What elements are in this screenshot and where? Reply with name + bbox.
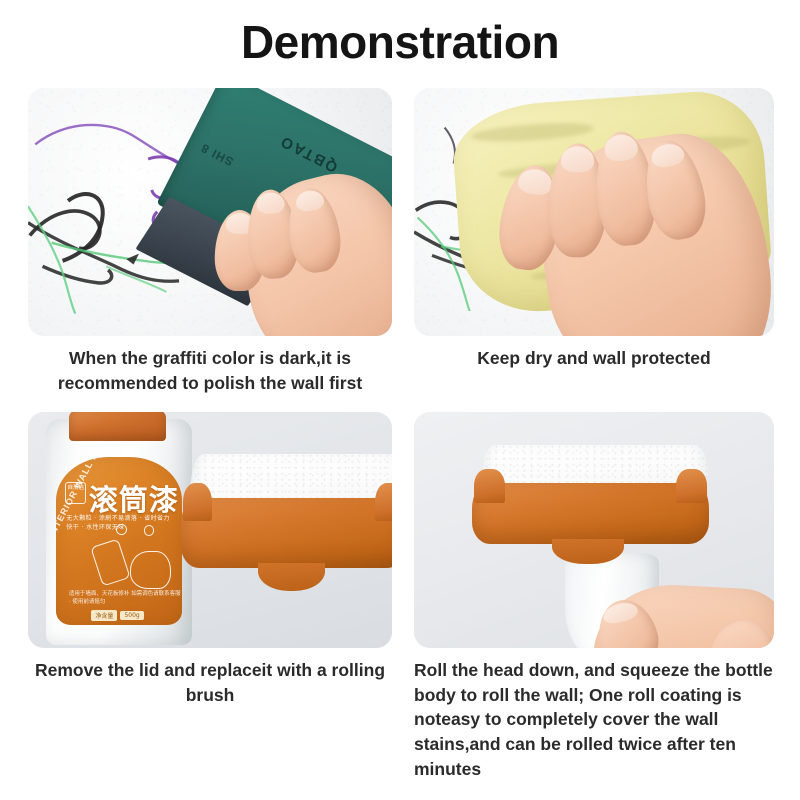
label-footnote: 适用于墙面、天花板修补 如需调色请联系客服 · 使用前请摇匀: [69, 590, 182, 607]
roller-frame: [181, 498, 392, 568]
roller-arm-right: [676, 469, 707, 502]
finger: [705, 615, 774, 647]
step-2: Keep dry and wall protected: [400, 88, 800, 396]
roller-arm-right: [375, 483, 392, 521]
step-4: Roll the head down, and squeeze the bott…: [400, 412, 800, 782]
bottle-label: 自清洁 滚筒漆 无大颗粒 · 涂刷不易滴落 · 省时省力快干 · 水性环保无味 …: [56, 457, 181, 625]
label-roller-drawing: [90, 539, 131, 587]
step-3-photo: 自清洁 滚筒漆 无大颗粒 · 涂刷不易滴落 · 省时省力快干 · 水性环保无味 …: [28, 412, 392, 648]
label-weight-badges: 净含量 500g: [91, 610, 143, 621]
fingernail: [295, 189, 326, 213]
label-weight-caption: 净含量: [91, 610, 117, 621]
fingernail: [561, 146, 595, 172]
step-4-caption: Roll the head down, and squeeze the bott…: [414, 658, 774, 782]
roller-arm-left: [183, 483, 212, 521]
label-hand-drawing: [130, 551, 170, 590]
fingernail: [603, 134, 639, 162]
cloth-fold: [470, 120, 595, 145]
fingernail: [649, 141, 685, 169]
step-3: 自清洁 滚筒漆 无大颗粒 · 涂刷不易滴落 · 省时省力快干 · 水性环保无味 …: [0, 412, 400, 782]
steps-row-top: QBTAO SHI 8 When th: [0, 88, 800, 396]
label-icon-badge: [144, 525, 155, 536]
bottle-cap: [69, 412, 165, 442]
roller-neck-connector: [258, 563, 326, 591]
roller-arm-left: [474, 469, 505, 502]
label-weight-value: 500g: [120, 611, 143, 620]
step-2-caption: Keep dry and wall protected: [414, 346, 774, 371]
roller-brush-head: [181, 454, 392, 600]
paint-bottle: 自清洁 滚筒漆 无大颗粒 · 涂刷不易滴落 · 省时省力快干 · 水性环保无味 …: [46, 419, 192, 646]
step-3-caption: Remove the lid and replaceit with a roll…: [28, 658, 392, 708]
page-title: Demonstration: [0, 0, 800, 80]
step-1-caption: When the graffiti color is dark,it is re…: [28, 346, 392, 396]
sanding-block-secondary-text: SHI 8: [198, 141, 236, 169]
demonstration-steps-grid: QBTAO SHI 8 When th: [0, 88, 800, 782]
roller-neck-connector: [552, 539, 623, 563]
roller-brush-on-wall: [472, 445, 710, 572]
roller-frame: [472, 483, 710, 544]
step-1-photo: QBTAO SHI 8: [28, 88, 392, 336]
step-1: QBTAO SHI 8 When th: [0, 88, 400, 396]
step-4-photo: [414, 412, 774, 648]
label-icon-badge: [116, 524, 127, 535]
fingernail: [257, 192, 287, 215]
step-2-photo: [414, 88, 774, 336]
steps-row-bottom: 自清洁 滚筒漆 无大颗粒 · 涂刷不易滴落 · 省时省力快干 · 水性环保无味 …: [0, 412, 800, 782]
